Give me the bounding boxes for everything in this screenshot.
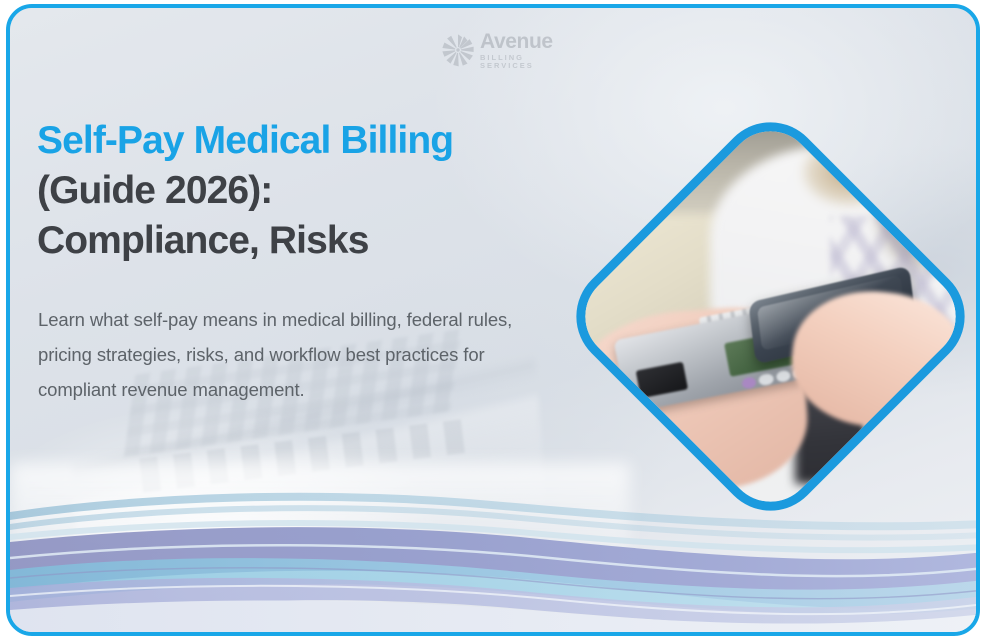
diamond-frame xyxy=(555,101,980,532)
avenue-billing-services-logo: Avenue BILLING SERVICES xyxy=(441,28,573,72)
pos-card-slot xyxy=(636,362,688,399)
page-title-line-1: Self-Pay Medical Billing xyxy=(37,116,557,166)
page-title: Self-Pay Medical Billing (Guide 2026): C… xyxy=(37,116,557,266)
logo-wordmark: Avenue BILLING SERVICES xyxy=(480,31,573,69)
pinwheel-sunburst-icon xyxy=(441,33,475,67)
logo-word: Avenue xyxy=(480,31,573,52)
logo-tagline: BILLING SERVICES xyxy=(480,54,573,69)
diamond-clip xyxy=(618,164,923,469)
page-title-line-3: Compliance, Risks xyxy=(37,216,557,266)
payment-terminal-photo xyxy=(560,106,980,532)
page-title-line-2: (Guide 2026): xyxy=(37,166,557,216)
decorative-wave-graphic xyxy=(10,472,980,632)
banner-frame: Avenue BILLING SERVICES Self-Pay Medical… xyxy=(6,4,980,636)
hero-banner: Avenue BILLING SERVICES Self-Pay Medical… xyxy=(0,0,986,640)
page-subtitle: Learn what self-pay means in medical bil… xyxy=(38,302,518,407)
